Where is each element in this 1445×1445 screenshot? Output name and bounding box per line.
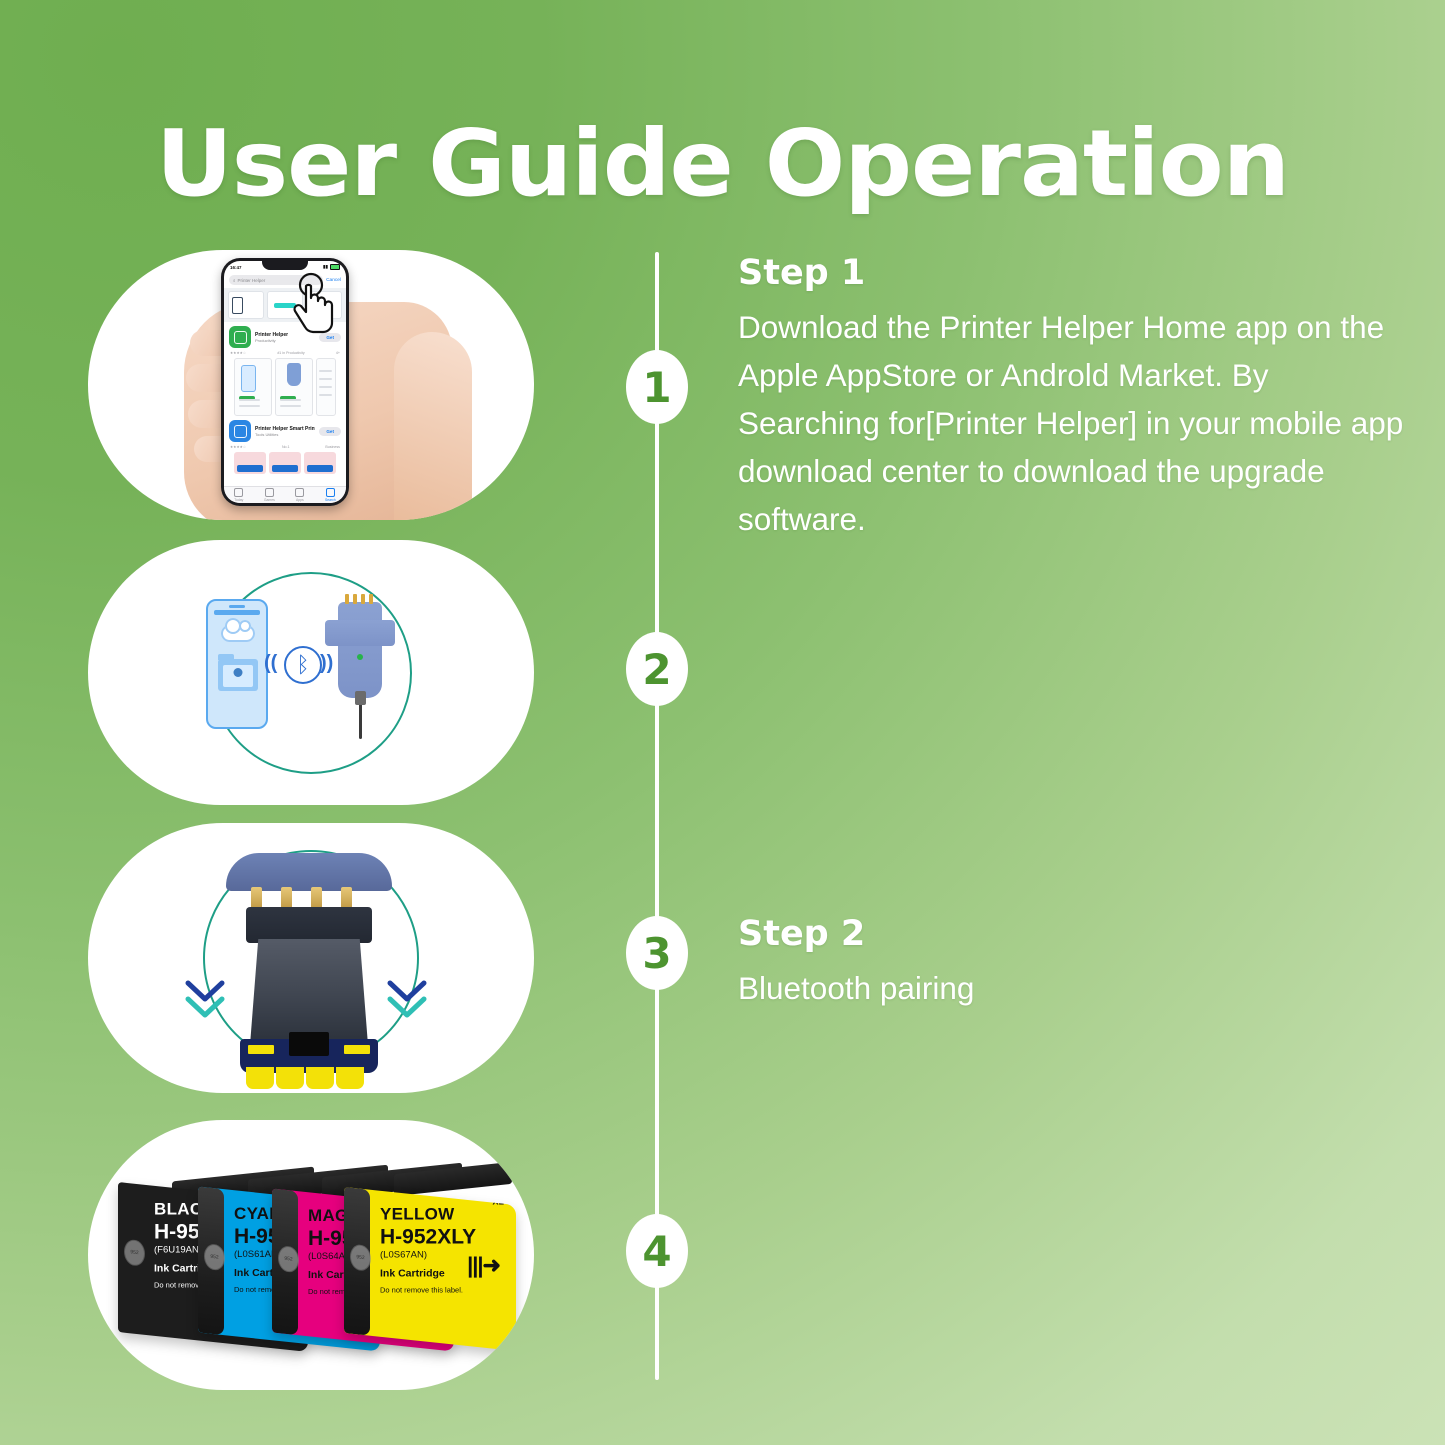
folder-icon <box>218 659 258 691</box>
step-marker-2: 2 <box>626 632 688 706</box>
app-meta: Printer Helper Smart Printer Tools Utili… <box>255 426 315 437</box>
step-2-image-container: (( ᛒ )) <box>88 540 534 805</box>
step-row-4: 952 BLACK H-952XL (F6U19AN) Ink Cartridg… <box>0 1120 1445 1390</box>
bluetooth-pairing-illustration: (( ᛒ )) <box>88 540 534 805</box>
step-marker-4: 4 <box>626 1214 688 1288</box>
games-icon <box>265 488 274 497</box>
bluetooth-icon: ᛒ <box>284 646 322 684</box>
resetter-cap <box>226 853 392 891</box>
direction-arrow-icon: |||➜ <box>467 1254 500 1277</box>
app-result-row[interactable]: Printer Helper Smart Printer Tools Utili… <box>229 420 341 442</box>
page-title: User Guide Operation <box>0 116 1445 213</box>
step-3-image-container <box>88 823 534 1093</box>
app-subtitle: Productivity <box>255 338 315 343</box>
step-body: Download the Printer Helper Home app on … <box>738 303 1418 543</box>
signal-arcs-right-icon: )) <box>320 652 333 675</box>
status-indicators: ▮▮ <box>323 264 340 270</box>
tab-label: Apps <box>296 498 304 502</box>
app-rating: ★★★★☆ <box>230 445 246 449</box>
app-age: 4+ <box>336 351 340 355</box>
app-icon-printer-helper <box>229 326 251 348</box>
status-led <box>357 654 363 660</box>
app-screenshot[interactable] <box>234 452 266 474</box>
phone-illustration <box>206 599 268 729</box>
step-heading: Step 1 <box>738 253 1418 293</box>
tab-label: Search <box>325 498 336 502</box>
cartridge-color-name: YELLOW <box>380 1206 508 1224</box>
app-screenshot[interactable] <box>275 358 313 416</box>
search-icon: ⌕ <box>233 278 236 283</box>
step-row-3: 3 Step 3 Touch the [Connect] button and … <box>0 823 1445 1093</box>
battery-icon <box>330 264 340 270</box>
phone-appstore-photo: 16:47 ▮▮ ⌕ Printer Helper Cancel <box>88 250 534 520</box>
cloud-upload-icon <box>221 625 255 642</box>
cartridge-model: H-952XLY <box>380 1227 508 1249</box>
cartridge-warning: Do not remove this label. <box>380 1287 508 1295</box>
get-button[interactable]: Get <box>319 427 341 436</box>
tab-today[interactable]: Today <box>234 488 243 502</box>
today-icon <box>234 488 243 497</box>
app-name: Printer Helper Smart Printer <box>255 426 315 432</box>
step-row-2: (( ᛒ )) 2 Step 2 Bluetooth pairing <box>0 540 1445 805</box>
banner-card[interactable] <box>228 291 264 319</box>
step-number: 3 <box>642 929 671 978</box>
tab-label: Games <box>264 498 275 502</box>
step-marker-3: 3 <box>626 916 688 990</box>
apps-icon <box>295 488 304 497</box>
chip-contacts <box>246 1067 364 1089</box>
step-1-image-container: 16:47 ▮▮ ⌕ Printer Helper Cancel <box>88 250 534 520</box>
usb-cable <box>359 695 362 739</box>
tab-label: Today <box>234 498 243 502</box>
tab-games[interactable]: Games <box>264 488 275 502</box>
chip-resetter-illustration <box>88 823 534 1093</box>
step-4-image-container: 952 BLACK H-952XL (F6U19AN) Ink Cartridg… <box>88 1120 534 1390</box>
signal-arcs-left-icon: (( <box>264 652 277 675</box>
app-screenshot[interactable] <box>234 358 272 416</box>
app-screenshot-gallery[interactable] <box>229 358 341 420</box>
cartridge-yellow: 952 XL YELLOW H-952XLY (L0S67AN) Ink Car… <box>344 1187 516 1351</box>
chevron-down-icon <box>384 975 430 1021</box>
app-age: Business <box>325 445 340 449</box>
chip-resetter-device <box>338 602 382 698</box>
wifi-icon: ▮▮ <box>323 264 328 270</box>
cartridge-label-yellow: XL YELLOW H-952XLY (L0S67AN) Ink Cartrid… <box>370 1190 516 1336</box>
pointing-hand-cursor-icon <box>284 272 338 338</box>
step-number: 2 <box>642 645 671 694</box>
app-icon-printer-helper-smart <box>229 420 251 442</box>
chip-body <box>250 939 368 1045</box>
ink-port: 952 <box>124 1239 145 1267</box>
search-value: Printer Helper <box>238 278 266 283</box>
xl-badge: XL <box>492 1198 504 1207</box>
step-number: 1 <box>642 363 671 412</box>
step-row-1: 16:47 ▮▮ ⌕ Printer Helper Cancel <box>0 250 1445 520</box>
thumb <box>394 332 472 520</box>
app-results-list: Printer Helper Productivity Get ★★★★☆ #1… <box>224 322 346 474</box>
status-time: 16:47 <box>230 265 242 270</box>
phone-notch <box>262 261 308 270</box>
app-rank: No.1 <box>282 445 290 449</box>
app-screenshot[interactable] <box>316 358 336 416</box>
app-screenshot[interactable] <box>269 452 301 474</box>
app-rating: ★★★★☆ <box>230 351 246 355</box>
search-icon <box>326 488 335 497</box>
chevron-down-icon <box>182 975 228 1021</box>
app-rating-row: ★★★★☆ No.1 Business <box>229 445 341 452</box>
tab-bar[interactable]: Today Games Apps <box>224 486 346 503</box>
ink-cartridges-photo: 952 BLACK H-952XL (F6U19AN) Ink Cartridg… <box>88 1120 534 1390</box>
app-screenshot[interactable] <box>304 452 336 474</box>
step-number: 4 <box>642 1227 671 1276</box>
chip-top-body <box>246 907 372 943</box>
step-text-1: Step 1 Download the Printer Helper Home … <box>738 253 1418 543</box>
step-marker-1: 1 <box>626 350 688 424</box>
app-subtitle: Tools Utilities <box>255 432 315 437</box>
tab-apps[interactable]: Apps <box>295 488 304 502</box>
cartridge-group: 952 BLACK H-952XL (F6U19AN) Ink Cartridg… <box>106 1148 518 1360</box>
tab-search[interactable]: Search <box>325 488 336 502</box>
user-guide-poster: User Guide Operation 16:47 <box>0 0 1445 1445</box>
app-rating-row: ★★★★☆ #1 in Productivity 4+ <box>229 351 341 358</box>
app-rank: #1 in Productivity <box>277 351 304 355</box>
app-screenshot-gallery[interactable] <box>229 452 341 474</box>
